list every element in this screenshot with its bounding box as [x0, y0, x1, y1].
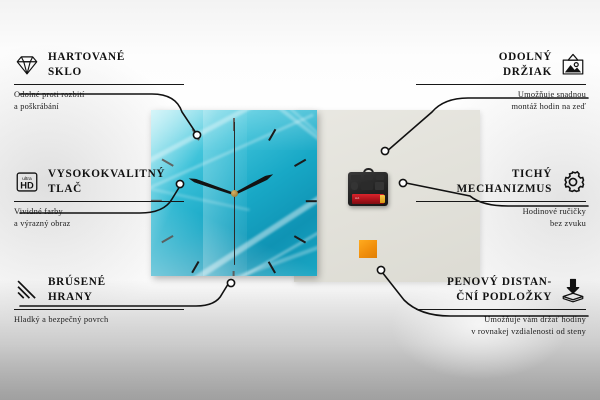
battery-label: AA: [355, 196, 360, 200]
mechanism-detail: [364, 175, 373, 180]
svg-text:HD: HD: [20, 180, 34, 190]
mechanism-detail: [376, 175, 384, 180]
feature-silent-mechanism[interactable]: TICHÝ MECHANIZMUS Hodinové ručičky bez z…: [416, 167, 586, 230]
feature-header: TICHÝ MECHANIZMUS: [416, 167, 586, 197]
clock-tick-8: [162, 235, 174, 243]
feature-high-quality-print[interactable]: ultra HD VYSOKOKVALITNÝ TLAČ Vividné far…: [14, 167, 184, 230]
clock-tick-10: [162, 159, 174, 167]
mechanism-detail: [361, 182, 373, 190]
feature-title: PENOVÝ DISTAN- ČNÍ PODLOŽKY: [447, 275, 552, 305]
clock-tick-3: [306, 200, 317, 202]
feature-desc-line: bez zvuku: [416, 218, 586, 230]
feature-desc-line: Umožňuje snadnou: [416, 89, 586, 101]
infographic-canvas: AA: [0, 0, 600, 400]
feature-description: Hladký a bezpečný povrch: [14, 314, 184, 326]
arrow-onto-pad-icon: [560, 277, 586, 303]
framed-picture-icon: [560, 52, 586, 78]
feature-title: TICHÝ MECHANIZMUS: [457, 167, 552, 197]
feature-desc-line: montáž hodin na zeď: [416, 101, 586, 113]
clock-tick-7: [192, 261, 200, 273]
feature-description: Odolné proti rozbití a poškrábání: [14, 89, 184, 113]
feature-header: ODOLNÝ DRŽIAK: [416, 50, 586, 80]
feature-foam-spacers[interactable]: PENOVÝ DISTAN- ČNÍ PODLOŽKY Umožňuje vám…: [416, 275, 586, 338]
feature-title: VYSOKOKVALITNÝ TLAČ: [48, 167, 165, 197]
mechanism-detail: [351, 175, 361, 180]
clock-hand-second-upper: [234, 122, 235, 193]
diagonal-stripes-icon: [14, 277, 40, 303]
feature-durable-holder[interactable]: ODOLNÝ DRŽIAK Umožňuje snadnou montáž ho…: [416, 50, 586, 113]
feature-description: Vividné farby a výrazný obraz: [14, 206, 184, 230]
gear-icon: [560, 169, 586, 195]
battery: AA: [352, 194, 384, 204]
clock-center-pivot: [231, 190, 238, 197]
feature-divider: [14, 84, 184, 85]
feature-divider: [416, 84, 586, 85]
feature-description: Umožňuje snadnou montáž hodin na zeď: [416, 89, 586, 113]
clock-mechanism: AA: [348, 168, 388, 206]
mechanism-body: AA: [348, 172, 388, 206]
clock-hand-second: [234, 193, 235, 265]
mechanism-detail: [375, 182, 384, 190]
feature-desc-line: Hladký a bezpečný povrch: [14, 314, 184, 326]
clock-tick-2: [294, 159, 306, 167]
feature-title: BRÚSENÉ HRANY: [48, 275, 106, 305]
feature-desc-line: v rovnakej vzdialenosti od steny: [416, 326, 586, 338]
feature-description: Umožňuje vám držať hodiny v rovnakej vzd…: [416, 314, 586, 338]
feature-ground-edges[interactable]: BRÚSENÉ HRANY Hladký a bezpečný povrch: [14, 275, 184, 326]
feature-desc-line: Umožňuje vám držať hodiny: [416, 314, 586, 326]
feature-header: PENOVÝ DISTAN- ČNÍ PODLOŽKY: [416, 275, 586, 305]
feature-tempered-glass[interactable]: HARTOVANÉ SKLO Odolné proti rozbití a po…: [14, 50, 184, 113]
feature-description: Hodinové ručičky bez zvuku: [416, 206, 586, 230]
feature-title: HARTOVANÉ SKLO: [48, 50, 125, 80]
connector-dot-edges: [227, 279, 234, 286]
feature-desc-line: Odolné proti rozbití: [14, 89, 184, 101]
feature-desc-line: Hodinové ručičky: [416, 206, 586, 218]
foam-pad-surface: [359, 240, 377, 258]
feature-divider: [416, 309, 586, 310]
feature-desc-line: a výrazný obraz: [14, 218, 184, 230]
foam-spacer-pad: [359, 240, 381, 262]
feature-desc-line: Vividné farby: [14, 206, 184, 218]
feature-divider: [14, 201, 184, 202]
feature-desc-line: a poškrábání: [14, 101, 184, 113]
feature-header: BRÚSENÉ HRANY: [14, 275, 184, 305]
feature-title: ODOLNÝ DRŽIAK: [499, 50, 552, 80]
ultra-hd-icon: ultra HD: [14, 169, 40, 195]
feature-header: HARTOVANÉ SKLO: [14, 50, 184, 80]
feature-header: ultra HD VYSOKOKVALITNÝ TLAČ: [14, 167, 184, 197]
feature-divider: [14, 309, 184, 310]
battery-terminal: [380, 195, 385, 203]
feature-divider: [416, 201, 586, 202]
mechanism-detail: [351, 182, 358, 190]
clock-tick-6: [233, 271, 235, 276]
diamond-icon: [14, 52, 40, 78]
